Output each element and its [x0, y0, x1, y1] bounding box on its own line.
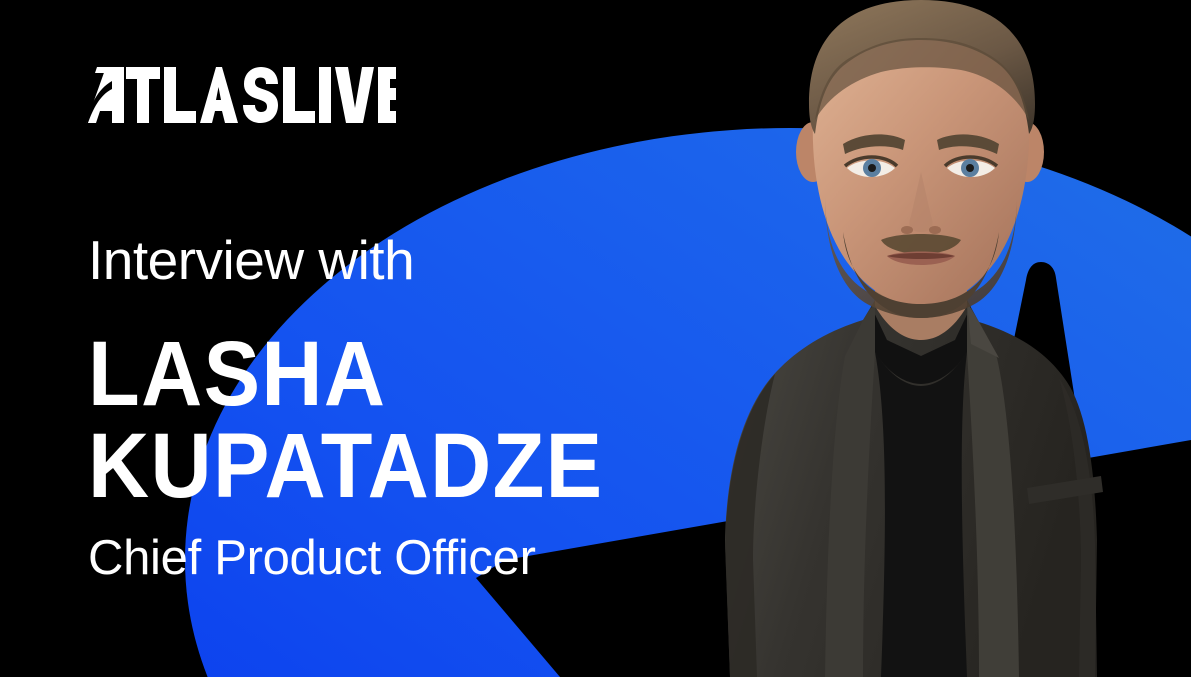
eyebrow-text: Interview with [88, 232, 708, 288]
promo-banner: Interview with LASHA KUPATADZE Chief Pro… [0, 0, 1191, 677]
person-last-name: KUPATADZE [88, 418, 658, 516]
person-first-name: LASHA [88, 326, 658, 424]
atlaslive-wordmark-icon [86, 67, 396, 123]
person-role: Chief Product Officer [88, 533, 708, 584]
headline-block: Interview with LASHA KUPATADZE Chief Pro… [88, 232, 708, 585]
atlaslive-logo[interactable] [86, 66, 396, 124]
content-layer: Interview with LASHA KUPATADZE Chief Pro… [0, 0, 1191, 677]
